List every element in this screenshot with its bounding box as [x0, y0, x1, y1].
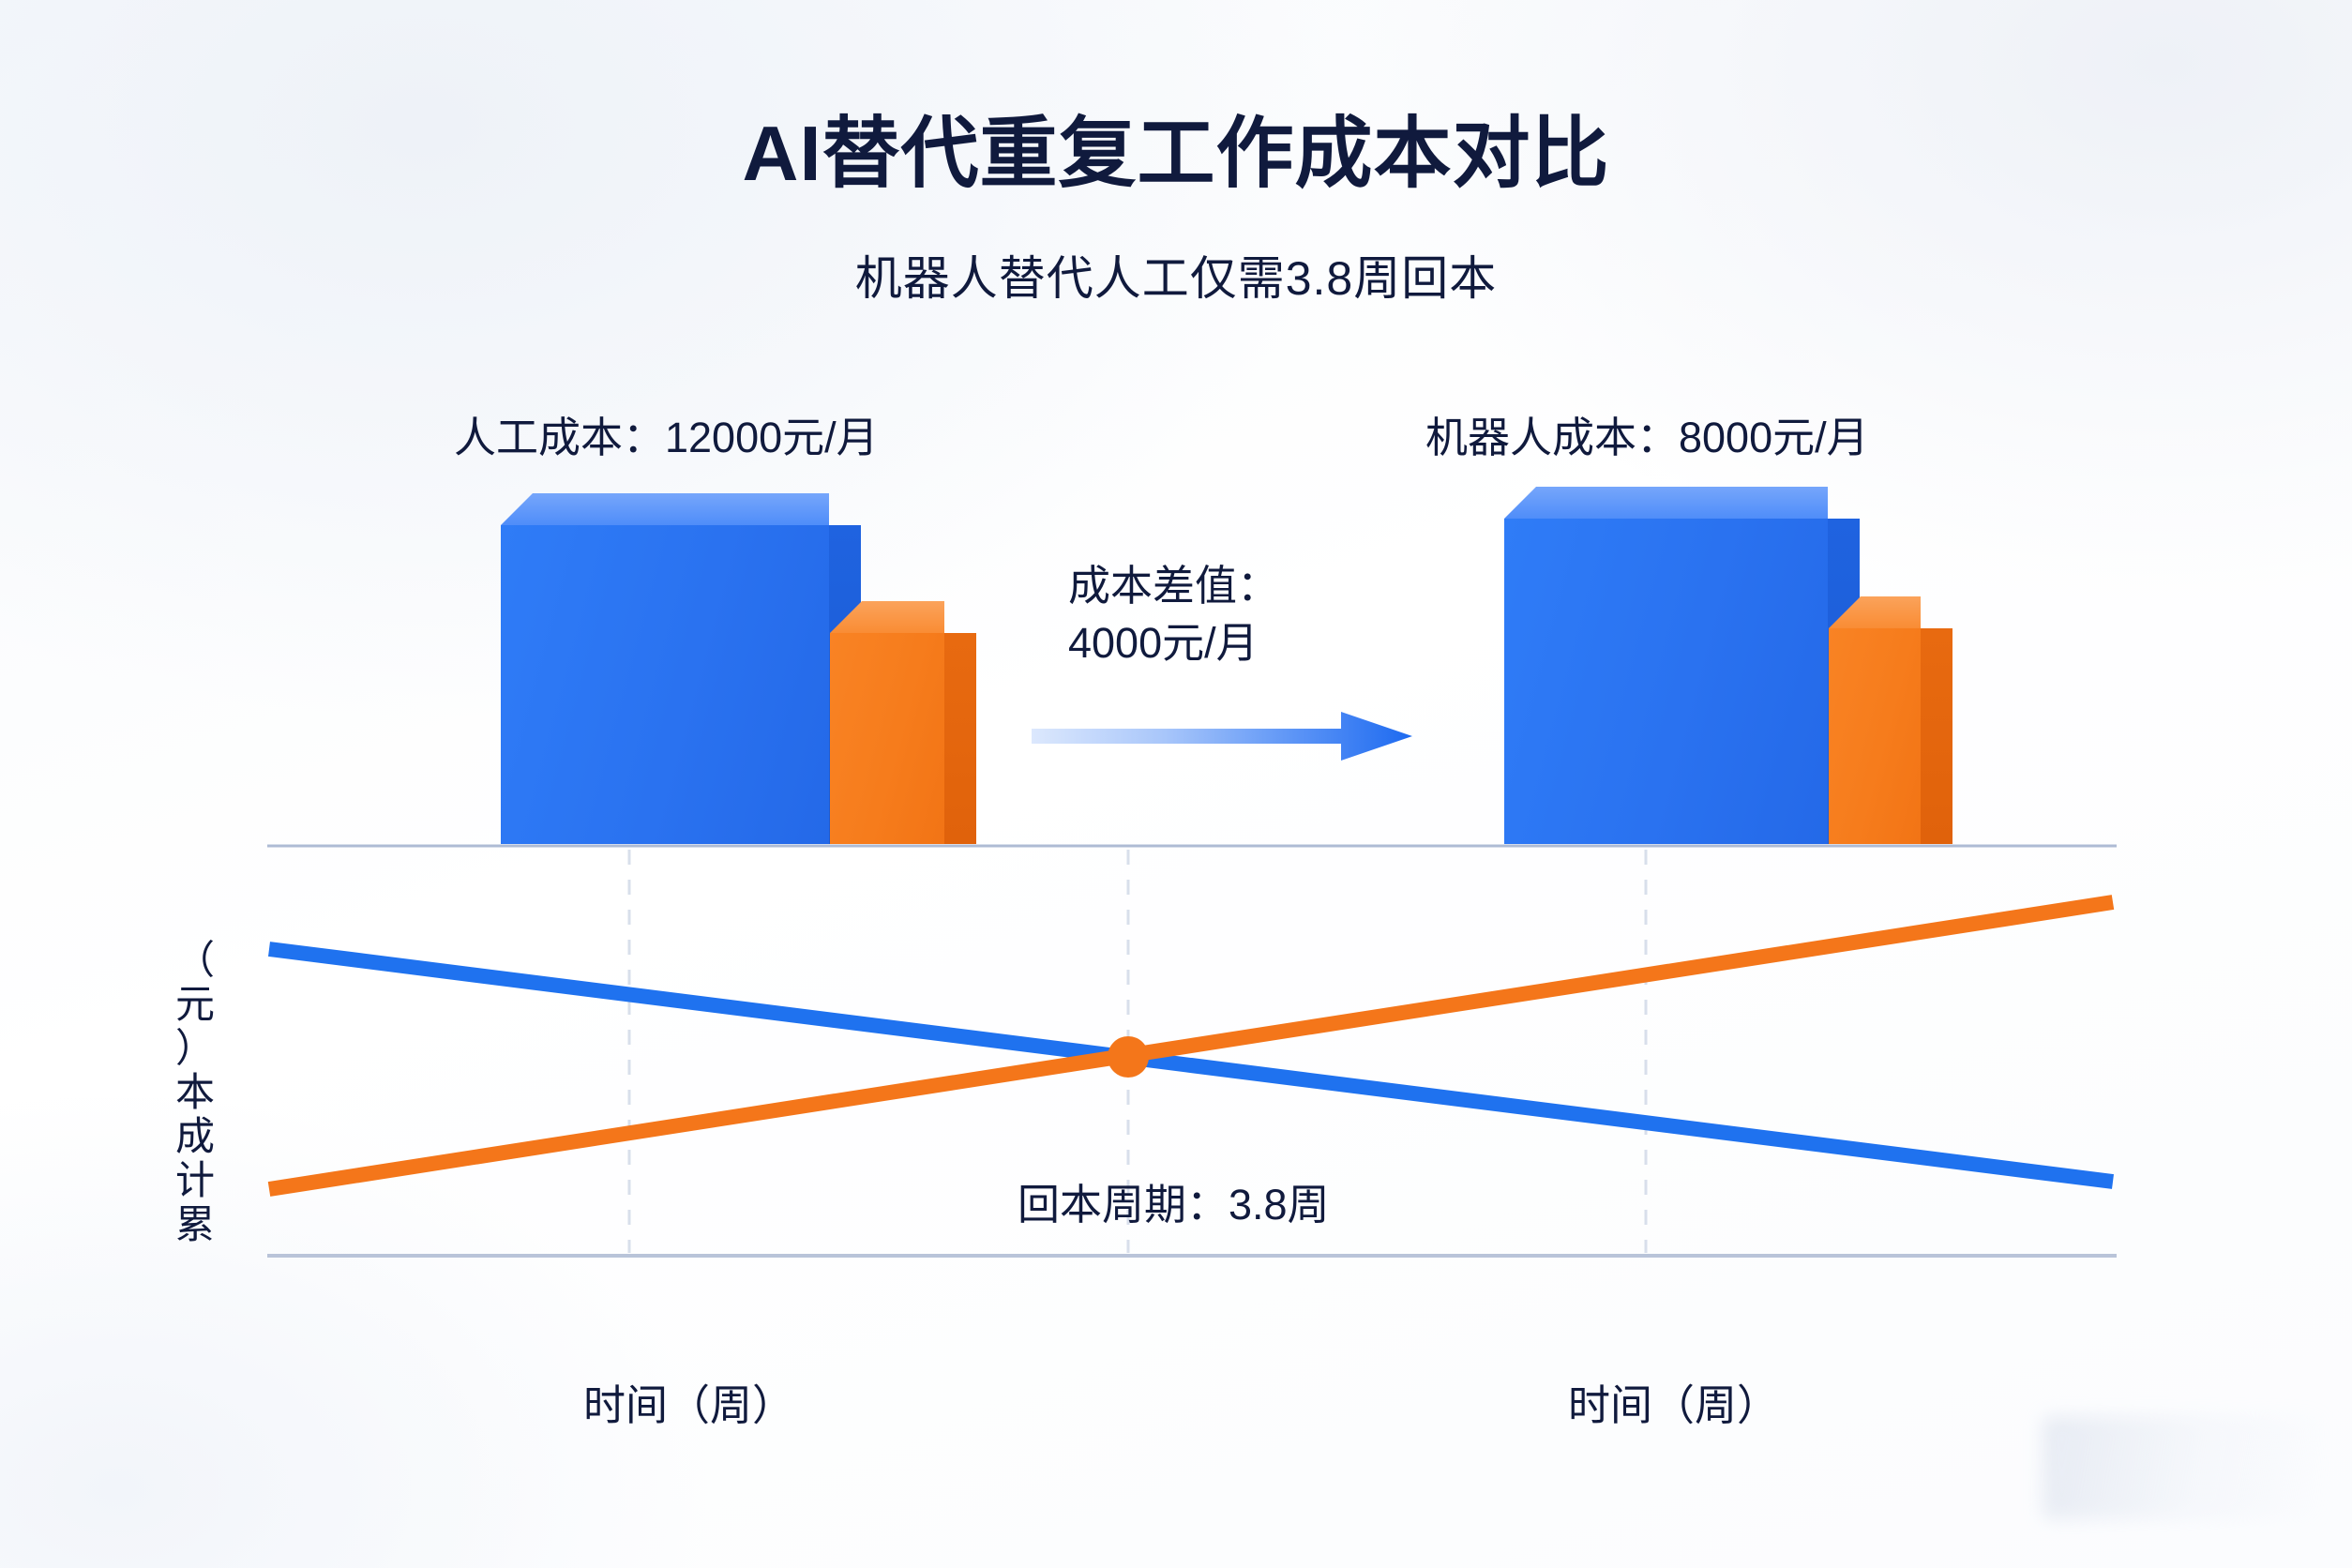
- bar-front-face: [1829, 628, 1921, 844]
- cost-difference-annotation: 成本差值： 4000元/月: [1068, 558, 1279, 672]
- y-axis-char: （: [167, 938, 223, 982]
- payback-period-annotation: 回本周期：3.8周: [1018, 1170, 1330, 1231]
- cost-difference-line-2: 4000元/月: [1068, 615, 1279, 672]
- bar-side-face: [1921, 628, 1952, 844]
- bar-front-face: [830, 633, 944, 844]
- y-axis-char: 累: [167, 1202, 223, 1246]
- bar-top-face: [501, 493, 829, 525]
- x-axis-label-right: 时间（周）: [1568, 1371, 1779, 1432]
- page-subtitle: 机器人替代人工仅需3.8周回本: [0, 255, 2352, 302]
- y-axis-char: 成: [167, 1114, 223, 1158]
- x-axis-label-left: 时间（周）: [583, 1371, 794, 1432]
- y-axis-char: ）: [167, 1026, 223, 1070]
- watermark-blur: [2043, 1416, 2324, 1519]
- bar-robot-cost-blue: [1504, 519, 1828, 844]
- arrow-right-icon: [1032, 708, 1416, 764]
- bar-robot-cost-orange: [1829, 628, 1921, 844]
- y-axis-label: （ 元 ） 本 成 计 累: [167, 938, 223, 1246]
- y-axis-char: 本: [167, 1070, 223, 1114]
- y-axis-char: 计: [167, 1158, 223, 1202]
- cost-difference-line-1: 成本差值：: [1068, 558, 1279, 615]
- bar-human-cost-orange: [830, 633, 944, 844]
- infographic-canvas: AI替代重复工作成本对比 机器人替代人工仅需3.8周回本 人工成本：12000元…: [0, 0, 2352, 1568]
- bar-top-face: [1504, 487, 1828, 519]
- human-cost-label: 人工成本：12000元/月: [454, 403, 879, 464]
- bar-front-face: [1504, 519, 1828, 844]
- crossover-point-marker: [1108, 1036, 1149, 1078]
- robot-cost-label: 机器人成本：8000元/月: [1425, 403, 1869, 464]
- y-axis-char: 元: [167, 982, 223, 1026]
- bar-side-face: [944, 633, 976, 844]
- bar-human-cost-blue: [501, 525, 829, 844]
- page-title: AI替代重复工作成本对比: [0, 114, 2352, 192]
- bar-front-face: [501, 525, 829, 844]
